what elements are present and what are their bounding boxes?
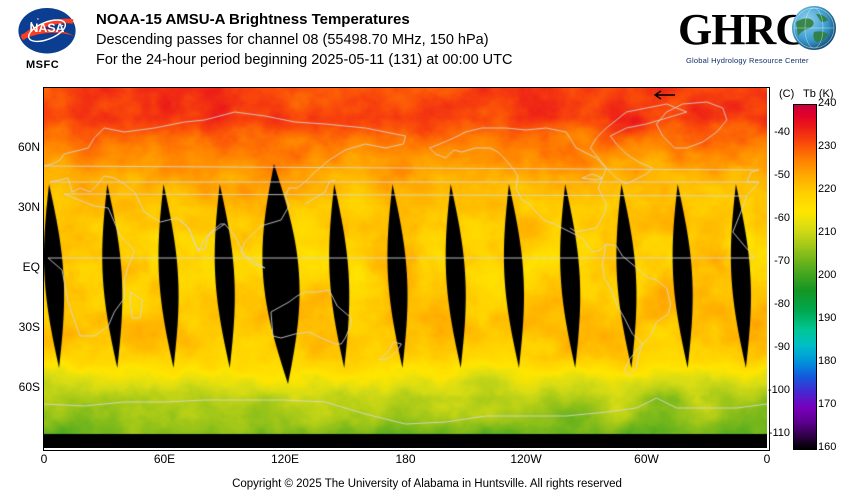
copyright-text: Copyright © 2025 The University of Alaba…: [0, 478, 854, 490]
y-axis-label-eq: EQ: [0, 260, 40, 274]
msfc-label: MSFC: [26, 59, 59, 71]
colorbar-tick-kelvin: 160: [818, 441, 836, 453]
globe-icon: [792, 6, 836, 50]
colorbar-tick-celsius: -60: [756, 212, 790, 224]
subtitle-channel: Descending passes for channel 08 (55498.…: [96, 30, 696, 50]
x-axis-label-60w: 60W: [625, 452, 669, 466]
colorbar-tick-kelvin: 210: [818, 226, 836, 238]
brightness-temperature-map: [44, 88, 767, 448]
colorbar-unit-celsius: (C): [779, 88, 794, 100]
figure-root: NASA MSFC NOAA-15 AMSU-A Brightness Temp…: [0, 0, 854, 502]
colorbar-tick-celsius: -80: [756, 298, 790, 310]
colorbar-tick-kelvin: 190: [818, 312, 836, 324]
svg-text:NASA: NASA: [30, 21, 65, 35]
page-title: NOAA-15 AMSU-A Brightness Temperatures: [96, 10, 696, 30]
colorbar-tick-kelvin: 230: [818, 140, 836, 152]
ghrc-logo: GHRC Global Hydrology Resource Center: [678, 4, 838, 72]
x-axis-label-360: 0: [745, 452, 789, 466]
y-axis-label-30n: 30N: [0, 200, 40, 214]
y-axis-label-60n: 60N: [0, 140, 40, 154]
x-axis-label-120e: 120E: [263, 452, 307, 466]
ghrc-wordmark: GHRC: [678, 4, 806, 55]
colorbar-tick-celsius: -70: [756, 255, 790, 267]
x-axis-label-180: 180: [384, 452, 428, 466]
subtitle-period: For the 24-hour period beginning 2025-05…: [96, 50, 696, 70]
colorbar-tick-celsius: -110: [756, 427, 790, 439]
colorbar-tick-celsius: -90: [756, 341, 790, 353]
nasa-logo: NASA MSFC: [6, 4, 90, 76]
x-axis-label-120w: 120W: [504, 452, 548, 466]
colorbar-tick-celsius: -40: [756, 126, 790, 138]
ghrc-subtitle: Global Hydrology Resource Center: [686, 56, 809, 65]
colorbar-tick-celsius: -50: [756, 169, 790, 181]
left-arrow-icon: [653, 90, 677, 100]
colorbar-tick-kelvin: 220: [818, 183, 836, 195]
x-axis-label-0: 0: [22, 452, 66, 466]
title-block: NOAA-15 AMSU-A Brightness Temperatures D…: [96, 10, 696, 70]
colorbar-tick-kelvin: 170: [818, 398, 836, 410]
colorbar-tick-celsius: -100: [756, 384, 790, 396]
x-axis-label-60e: 60E: [143, 452, 187, 466]
colorbar: [793, 104, 817, 450]
y-axis-label-30s: 30S: [0, 320, 40, 334]
colorbar-tick-kelvin: 200: [818, 269, 836, 281]
y-axis-label-60s: 60S: [0, 380, 40, 394]
nasa-meatball-icon: NASA: [14, 6, 80, 58]
colorbar-tick-kelvin: 240: [818, 97, 836, 109]
colorbar-tick-kelvin: 180: [818, 355, 836, 367]
